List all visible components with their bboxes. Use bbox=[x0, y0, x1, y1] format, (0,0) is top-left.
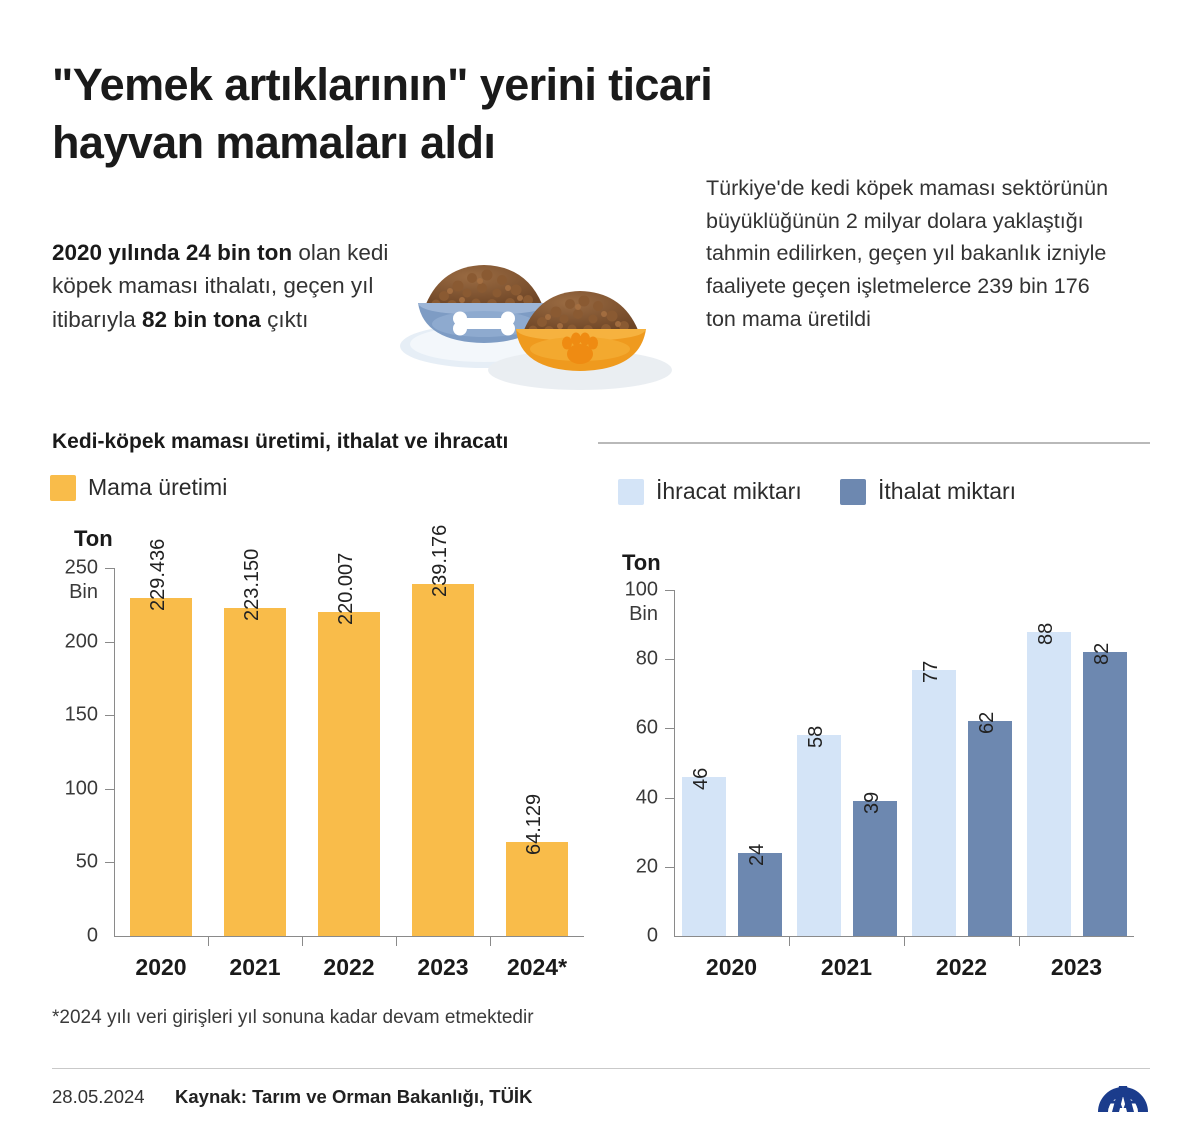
legend-swatch-uretim bbox=[50, 475, 76, 501]
y-axis-tick bbox=[665, 728, 674, 729]
legend-label-ithalat: İthalat miktarı bbox=[878, 478, 1016, 505]
bar-ithalat bbox=[968, 721, 1012, 936]
lead-left-plain-2: çıktı bbox=[261, 307, 309, 332]
legend-item-ihracat: İhracat miktarı bbox=[618, 478, 802, 505]
y-axis-unit-sublabel: Bin bbox=[598, 603, 658, 626]
x-axis-tick bbox=[208, 937, 209, 946]
bar-uretim bbox=[224, 608, 286, 936]
x-axis-tick-label: 2021 bbox=[208, 954, 302, 981]
bar-value-label: 62 bbox=[976, 712, 999, 734]
bar-ihracat bbox=[1027, 632, 1071, 936]
y-axis-tick-label: 0 bbox=[38, 925, 98, 948]
pet-food-bowls-illustration bbox=[392, 248, 684, 390]
y-axis-tick bbox=[665, 659, 674, 660]
bar-value-label: 220.007 bbox=[335, 553, 358, 625]
y-axis-tick bbox=[105, 789, 114, 790]
lead-paragraph-left: 2020 yılında 24 bin ton olan kedi köpek … bbox=[52, 236, 402, 336]
y-axis-tick bbox=[665, 867, 674, 868]
x-axis-line bbox=[114, 936, 584, 937]
infographic-page: "Yemek artıklarının" yerini ticari hayva… bbox=[0, 0, 1200, 1147]
x-axis-tick-label: 2023 bbox=[1019, 954, 1134, 981]
headline-line-2: hayvan mamaları aldı bbox=[52, 114, 912, 172]
headline-line-1: "Yemek artıklarının" yerini ticari bbox=[52, 59, 712, 110]
bar-value-label: 88 bbox=[1035, 622, 1058, 644]
legend-label-uretim: Mama üretimi bbox=[88, 474, 227, 501]
y-axis-tick-label: 100 bbox=[598, 579, 658, 602]
bar-value-label: 39 bbox=[861, 792, 884, 814]
x-axis-tick-label: 2020 bbox=[674, 954, 789, 981]
y-axis-unit-right: Ton bbox=[622, 550, 661, 576]
x-axis-tick-label: 2020 bbox=[114, 954, 208, 981]
chart-ihracat-ithalat: Ton 020406080100Bin202020212022202346245… bbox=[618, 550, 1150, 986]
plot-area-trade: 020406080100Bin2020202120222023462458397… bbox=[674, 590, 1134, 936]
x-axis-tick bbox=[904, 937, 905, 946]
bar-value-label: 229.436 bbox=[147, 539, 170, 611]
y-axis-tick-label: 250 bbox=[38, 557, 98, 580]
lead-paragraph-right: Türkiye'de kedi köpek maması sektörünün … bbox=[706, 172, 1116, 335]
y-axis-tick bbox=[105, 715, 114, 716]
y-axis-tick-label: 40 bbox=[598, 786, 658, 809]
legend-item-ithalat: İthalat miktarı bbox=[840, 478, 1016, 505]
legend-item-uretim: Mama üretimi bbox=[50, 474, 227, 501]
bar-value-label: 239.176 bbox=[429, 525, 452, 597]
y-axis-tick-label: 200 bbox=[38, 630, 98, 653]
x-axis-tick-label: 2022 bbox=[904, 954, 1019, 981]
chart-section-title: Kedi-köpek maması üretimi, ithalat ve ih… bbox=[52, 430, 508, 454]
bar-uretim bbox=[506, 842, 568, 936]
bar-uretim bbox=[318, 612, 380, 936]
bar-value-label: 77 bbox=[920, 660, 943, 682]
lead-left-bold-2: 82 bin tona bbox=[142, 307, 261, 332]
y-axis-line bbox=[114, 568, 115, 936]
aa-logo: AA bbox=[1094, 1062, 1152, 1114]
chart-mama-uretimi: Ton 050100150200250Bin202020212022202320… bbox=[52, 526, 592, 986]
bar-ithalat bbox=[1083, 652, 1127, 936]
bar-ihracat bbox=[912, 670, 956, 936]
legend-swatch-ithalat bbox=[840, 479, 866, 505]
y-axis-tick-label: 60 bbox=[598, 717, 658, 740]
y-axis-tick bbox=[665, 590, 674, 591]
bar-value-label: 64.129 bbox=[523, 793, 546, 854]
bar-ihracat bbox=[682, 777, 726, 936]
svg-text:AA: AA bbox=[1104, 1084, 1142, 1114]
y-axis-tick bbox=[665, 798, 674, 799]
y-axis-tick-label: 0 bbox=[598, 925, 658, 948]
bar-value-label: 82 bbox=[1091, 643, 1114, 665]
legend-swatch-ihracat bbox=[618, 479, 644, 505]
source-label: Kaynak: Tarım ve Orman Bakanlığı, TÜİK bbox=[175, 1086, 532, 1108]
y-axis-tick-label: 150 bbox=[38, 704, 98, 727]
y-axis-tick bbox=[105, 862, 114, 863]
footer-divider bbox=[52, 1068, 1150, 1069]
y-axis-unit-left: Ton bbox=[74, 526, 113, 552]
bar-value-label: 223.150 bbox=[241, 548, 264, 620]
y-axis-tick-label: 80 bbox=[598, 648, 658, 671]
x-axis-tick bbox=[1019, 937, 1020, 946]
y-axis-tick-label: 100 bbox=[38, 777, 98, 800]
x-axis-tick bbox=[789, 937, 790, 946]
x-axis-tick-label: 2021 bbox=[789, 954, 904, 981]
y-axis-tick-label: 20 bbox=[598, 855, 658, 878]
x-axis-tick-label: 2024* bbox=[490, 954, 584, 981]
page-title: "Yemek artıklarının" yerini ticari hayva… bbox=[52, 56, 912, 171]
bar-uretim bbox=[412, 584, 474, 936]
y-axis-tick-label: 50 bbox=[38, 851, 98, 874]
bar-value-label: 24 bbox=[746, 844, 769, 866]
lead-left-bold-1: 2020 yılında 24 bin ton bbox=[52, 240, 292, 265]
bar-uretim bbox=[130, 598, 192, 936]
publish-date: 28.05.2024 bbox=[52, 1086, 145, 1108]
section-divider bbox=[598, 442, 1150, 444]
x-axis-tick-label: 2023 bbox=[396, 954, 490, 981]
bar-value-label: 58 bbox=[805, 726, 828, 748]
plot-area-uretim: 050100150200250Bin20202021202220232024*2… bbox=[114, 568, 584, 936]
bar-ihracat bbox=[797, 735, 841, 936]
x-axis-tick-label: 2022 bbox=[302, 954, 396, 981]
chart-footnote: *2024 yılı veri girişleri yıl sonuna kad… bbox=[52, 1007, 534, 1029]
y-axis-tick bbox=[105, 642, 114, 643]
bar-ithalat bbox=[853, 801, 897, 936]
x-axis-tick bbox=[396, 937, 397, 946]
x-axis-tick bbox=[302, 937, 303, 946]
y-axis-unit-sublabel: Bin bbox=[38, 581, 98, 604]
y-axis-line bbox=[674, 590, 675, 936]
legend-label-ihracat: İhracat miktarı bbox=[656, 478, 802, 505]
bar-value-label: 46 bbox=[690, 768, 713, 790]
y-axis-tick bbox=[105, 568, 114, 569]
x-axis-tick bbox=[490, 937, 491, 946]
